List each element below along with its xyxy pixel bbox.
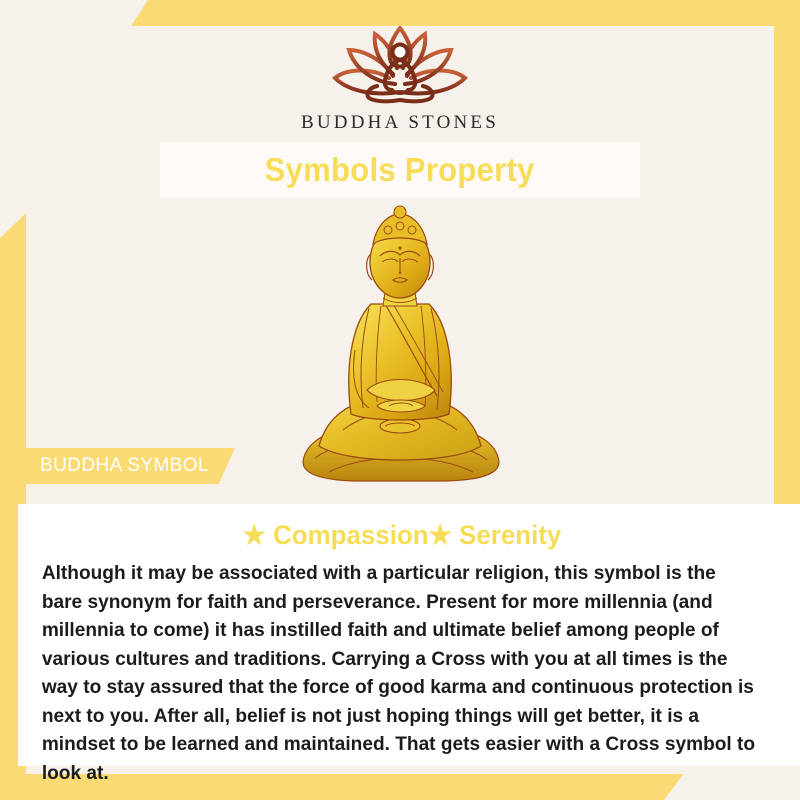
brand-logo-block: BUDDHA STONES xyxy=(0,22,800,134)
symbol-category-label: BUDDHA SYMBOL xyxy=(40,455,209,477)
buddha-artwork xyxy=(285,200,515,500)
symbol-category-tag: BUDDHA SYMBOL xyxy=(18,448,235,484)
title-banner: Symbols Property xyxy=(160,142,640,198)
lotus-meditation-figure-icon xyxy=(315,22,485,108)
content-panel: ★ Compassion★ Serenity Although it may b… xyxy=(18,504,800,766)
attributes-subtitle: ★ Compassion★ Serenity xyxy=(45,520,759,551)
poster-root: BUDDHA STONES Symbols Property xyxy=(0,0,800,800)
seated-golden-buddha-image xyxy=(285,200,515,500)
page-title: Symbols Property xyxy=(265,151,535,189)
brand-wordmark: BUDDHA STONES xyxy=(0,112,800,134)
description-paragraph: Although it may be associated with a par… xyxy=(30,559,763,787)
